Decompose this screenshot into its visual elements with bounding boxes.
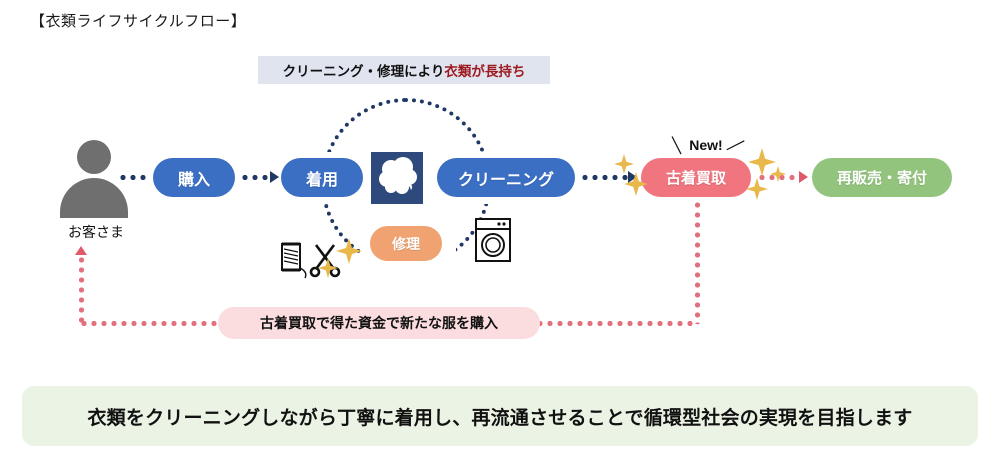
arrowhead-to-customer (75, 246, 87, 255)
node-cleaning[interactable]: クリーニング (437, 158, 575, 197)
top-banner-text-normal: クリーニング・修理により (283, 60, 445, 80)
person-head-icon (77, 140, 111, 174)
page-title: 【衣類ライフサイクルフロー】 (30, 10, 246, 31)
summary-banner: 衣類をクリーニングしながら丁寧に着用し、再流通させることで循環型社会の実現を目指… (22, 386, 978, 446)
connector-cleaning-to-buyback (580, 175, 628, 180)
return-loop-label: 古着買取で得た資金で新たな服を購入 (218, 307, 540, 339)
top-banner-text-highlight: 衣類が長持ち (444, 60, 525, 80)
thread-spool-icon (282, 244, 306, 278)
connector-customer-to-purchase (118, 175, 150, 180)
arrowhead-to-resale (799, 171, 808, 183)
sparkle-icon (318, 258, 338, 278)
return-line-bottom-right (535, 321, 698, 326)
diagram-canvas: 【衣類ライフサイクルフロー】 クリーニング・修理により衣類が長持ち お客さま 購… (0, 0, 1000, 472)
return-line-bottom-left (79, 321, 224, 326)
node-wear[interactable]: 着用 (281, 158, 363, 197)
top-banner: クリーニング・修理により衣類が長持ち (258, 56, 550, 84)
new-badge-slash-left: ＼ (666, 133, 687, 158)
connector-purchase-to-wear (240, 175, 270, 180)
new-badge: ＼ New! ／ (660, 134, 752, 156)
customer-figure: お客さま (50, 140, 140, 240)
sparkle-icon (614, 154, 634, 174)
return-line-left-vertical (79, 255, 84, 323)
sparkle-icon (624, 172, 648, 196)
sparkle-icon (770, 166, 786, 182)
node-repair[interactable]: 修理 (370, 226, 442, 261)
node-purchase[interactable]: 購入 (153, 158, 235, 197)
washing-machine-icon (473, 216, 513, 264)
new-badge-label: New! (689, 137, 722, 153)
node-buyback[interactable]: 古着買取 (641, 158, 751, 197)
node-resale[interactable]: 再販売・寄付 (812, 158, 952, 197)
sparkle-icon (336, 238, 362, 264)
return-line-right-vertical (695, 200, 700, 324)
customer-label: お客さま (46, 222, 146, 242)
foam-cloud-icon (371, 152, 423, 204)
arrowhead-to-wear (270, 171, 279, 183)
new-badge-slash-right: ／ (725, 133, 746, 158)
sparkle-icon (746, 178, 768, 200)
person-body-icon (60, 178, 128, 218)
